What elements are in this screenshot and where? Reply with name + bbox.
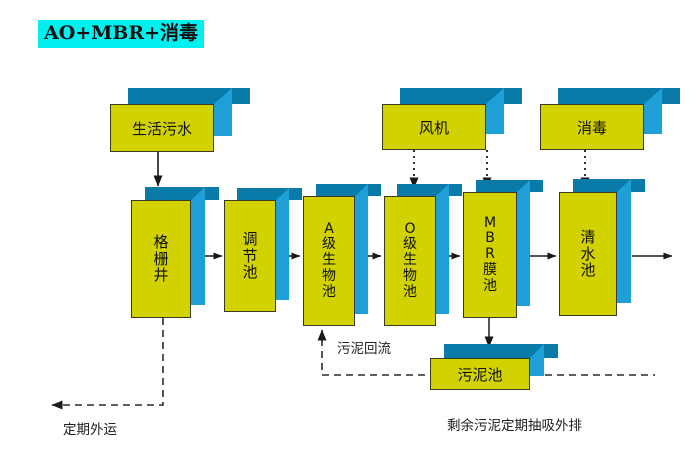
box-label-blower: 风机 <box>382 104 486 150</box>
box-top-face <box>237 188 302 200</box>
box-top-face <box>145 187 219 200</box>
label-line: O <box>404 222 415 238</box>
label-line: 清 <box>580 229 595 246</box>
box-side-face <box>517 180 530 306</box>
label-sludge-return: 污泥回流 <box>337 337 391 357</box>
box-top-face <box>397 184 462 196</box>
label-line: 水 <box>580 246 595 263</box>
box-label-disinfection: 消毒 <box>540 104 644 150</box>
label-line: 物 <box>403 269 417 285</box>
label-line: 池 <box>580 262 595 279</box>
label-line: 池 <box>403 285 417 301</box>
label-line: 生 <box>403 253 417 269</box>
label-line: B <box>485 231 495 247</box>
box-label-sludge-tank: 污泥池 <box>430 358 530 390</box>
box-clean-water-tank[interactable]: 清 水 池 <box>559 192 633 316</box>
label-line: 格 <box>153 234 168 251</box>
label-line: 池 <box>322 285 336 301</box>
box-side-face <box>617 179 631 303</box>
label-line: 池 <box>483 279 497 295</box>
label-line: 栅 <box>153 251 168 268</box>
box-top-face <box>573 179 645 192</box>
box-label-domestic-sewage: 生活污水 <box>110 104 214 152</box>
box-label-clean-water-tank: 清 水 池 <box>559 192 617 316</box>
box-side-face <box>436 184 449 314</box>
box-mbr-membrane-tank[interactable]: M B R 膜 池 <box>463 192 533 318</box>
box-label-regulating-tank: 调 节 池 <box>224 200 276 312</box>
label-line: 池 <box>242 264 257 281</box>
box-regulating-tank[interactable]: 调 节 池 <box>224 200 292 312</box>
label-line: 生 <box>322 253 336 269</box>
label-periodic-transport: 定期外运 <box>63 418 117 438</box>
box-disinfection[interactable]: 消毒 <box>540 104 646 150</box>
box-grating-well[interactable]: 格 栅 井 <box>131 200 209 318</box>
box-top-face <box>476 180 543 192</box>
box-side-face <box>355 184 368 314</box>
label-excess-sludge: 剩余污泥定期抽吸外排 <box>447 414 582 434</box>
box-domestic-sewage[interactable]: 生活污水 <box>110 104 216 152</box>
label-line: 井 <box>153 267 168 284</box>
box-label-mbr-membrane-tank: M B R 膜 池 <box>463 192 517 318</box>
label-line: R <box>485 247 495 263</box>
box-side-face <box>276 188 289 300</box>
label-line: 级 <box>403 237 417 253</box>
box-blower[interactable]: 风机 <box>382 104 488 150</box>
box-side-face <box>191 187 205 305</box>
label-line: 调 <box>242 231 257 248</box>
label-line: 膜 <box>483 263 497 279</box>
box-label-grating-well: 格 栅 井 <box>131 200 191 318</box>
box-label-a-bio-tank: A 级 生 物 池 <box>303 196 355 326</box>
label-line: 节 <box>242 248 257 265</box>
box-sludge-tank[interactable]: 污泥池 <box>430 358 548 390</box>
box-label-o-bio-tank: O 级 生 物 池 <box>384 196 436 326</box>
box-a-bio-tank[interactable]: A 级 生 物 池 <box>303 196 371 326</box>
label-line: 物 <box>322 269 336 285</box>
box-o-bio-tank[interactable]: O 级 生 物 池 <box>384 196 452 326</box>
label-line: 级 <box>322 237 336 253</box>
label-line: M <box>484 216 496 232</box>
box-top-face <box>316 184 381 196</box>
label-line: A <box>324 222 334 238</box>
